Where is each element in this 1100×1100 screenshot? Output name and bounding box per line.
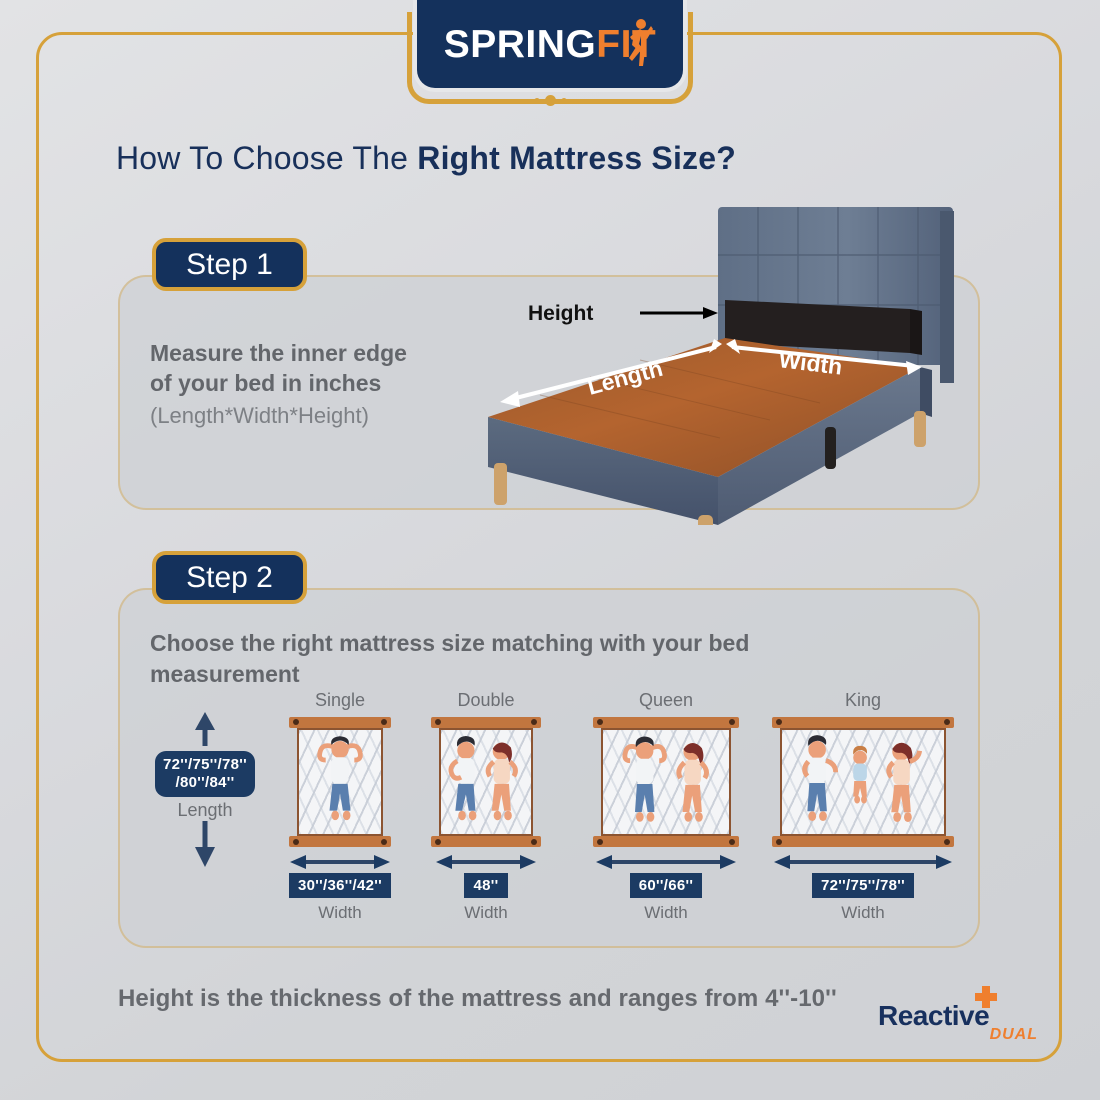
mattress-double (431, 717, 541, 847)
size-column-queen: Queen (588, 690, 744, 923)
width-value-king: 72''/75''/78'' (812, 873, 914, 898)
logo-banner: SPRINGFIT (0, 0, 1100, 125)
size-name-single: Single (280, 690, 400, 711)
logo-spring-text: SPRING (444, 25, 597, 64)
mattress-surface (601, 728, 731, 836)
length-arrow-down-icon (155, 821, 255, 867)
page-title-bold: Right Mattress Size? (417, 140, 736, 176)
width-value-single: 30''/36''/42'' (289, 873, 391, 898)
person-figure (320, 736, 361, 820)
mattress-single (289, 717, 391, 847)
length-axis-label: Length (155, 800, 255, 821)
person-figure-male (805, 735, 836, 821)
step-1-instructions: Measure the inner edge of your bed in in… (150, 338, 480, 430)
size-column-double: Double (424, 690, 548, 923)
frame-dot (531, 719, 537, 725)
person-figure-group (441, 730, 531, 834)
frame-dot (381, 719, 387, 725)
person-figure-group (299, 730, 381, 834)
frame-dot (597, 839, 603, 845)
width-arrow-icon (436, 854, 536, 870)
size-name-double: Double (424, 690, 548, 711)
size-name-king: King (778, 690, 948, 711)
frame-dot (597, 719, 603, 725)
person-figure-female (889, 743, 920, 822)
frame-dot (435, 719, 441, 725)
mattress-frame-bottom (431, 836, 541, 847)
width-group-single: 30''/36''/42'' Width (280, 854, 400, 923)
step-1-line-2: of your bed in inches (150, 368, 480, 398)
mattress-frame-bottom (289, 836, 391, 847)
mattress-surface (297, 728, 383, 836)
running-figure-icon (627, 18, 653, 68)
person-figure-baby (853, 746, 867, 804)
width-value-queen: 60''/66'' (630, 873, 703, 898)
bed-height-callout: Height (528, 302, 718, 325)
width-arrow-icon (596, 854, 736, 870)
length-value-badge: 72''/75''/78'' /80''/84'' (155, 751, 255, 797)
person-figure-female (488, 742, 515, 820)
mattress-queen (593, 717, 739, 847)
step-1-line-3: (Length*Width*Height) (150, 401, 480, 430)
width-group-king: 72''/75''/78'' Width (778, 854, 948, 923)
length-value-line-2: /80''/84'' (162, 774, 248, 792)
width-value-double: 48'' (464, 873, 507, 898)
mattress-frame-bottom (593, 836, 739, 847)
person-figure-group (782, 730, 944, 834)
dual-word: DUAL (878, 1026, 1038, 1044)
width-label-double: Width (464, 903, 507, 923)
mattress-frame-bottom (772, 836, 954, 847)
step-1-badge: Step 1 (152, 238, 307, 291)
bracket-dot-large (545, 95, 556, 106)
person-figure-female (679, 743, 707, 822)
bracket-line-left (477, 99, 529, 103)
length-axis: 72''/75''/78'' /80''/84'' Length (155, 712, 255, 872)
footer-note: Height is the thickness of the mattress … (118, 985, 837, 1013)
width-arrow-icon (290, 854, 390, 870)
step-2-instruction: Choose the right mattress size matching … (150, 628, 870, 690)
reactive-dual-logo: Reactive DUAL (878, 990, 1048, 1048)
mattress-king (772, 717, 954, 847)
frame-dot (729, 719, 735, 725)
bracket-dot-small-right (561, 98, 567, 104)
size-column-king: King (778, 690, 948, 923)
person-figure-male (451, 736, 477, 820)
step-1-line-1: Measure the inner edge (150, 338, 480, 368)
page-title-regular: How To Choose The (116, 140, 417, 176)
mattress-surface (780, 728, 946, 836)
width-label-king: Width (841, 903, 884, 923)
length-arrow-up-icon (155, 712, 255, 746)
frame-dot (293, 839, 299, 845)
frame-dot (776, 839, 782, 845)
mattress-frame-top (431, 717, 541, 728)
bed-illustration: Length Width Height (470, 195, 990, 525)
width-arrow-icon (774, 854, 952, 870)
bracket-line-right (572, 99, 624, 103)
frame-dot (776, 719, 782, 725)
mattress-frame-top (772, 717, 954, 728)
size-name-queen: Queen (588, 690, 744, 711)
frame-dot (729, 839, 735, 845)
person-figure-group (603, 730, 729, 834)
mattress-frame-top (593, 717, 739, 728)
frame-dot (293, 719, 299, 725)
size-column-single: Single (280, 690, 400, 923)
length-value-line-1: 72''/75''/78'' (162, 756, 248, 774)
frame-dot (944, 839, 950, 845)
width-group-queen: 60''/66'' Width (588, 854, 744, 923)
width-group-double: 48'' Width (424, 854, 548, 923)
frame-dot (435, 839, 441, 845)
mattress-surface (439, 728, 533, 836)
frame-dot (381, 839, 387, 845)
mattress-frame-top (289, 717, 391, 728)
bracket-dot-ornament (412, 95, 688, 106)
step-2-badge: Step 2 (152, 551, 307, 604)
frame-dot (531, 839, 537, 845)
frame-dot (944, 719, 950, 725)
page-title: How To Choose The Right Mattress Size? (116, 140, 996, 177)
width-label-queen: Width (644, 903, 687, 923)
bracket-dot-small-left (534, 98, 540, 104)
bed-height-label: Height (528, 302, 593, 325)
width-label-single: Width (318, 903, 361, 923)
person-figure-male (625, 736, 665, 821)
